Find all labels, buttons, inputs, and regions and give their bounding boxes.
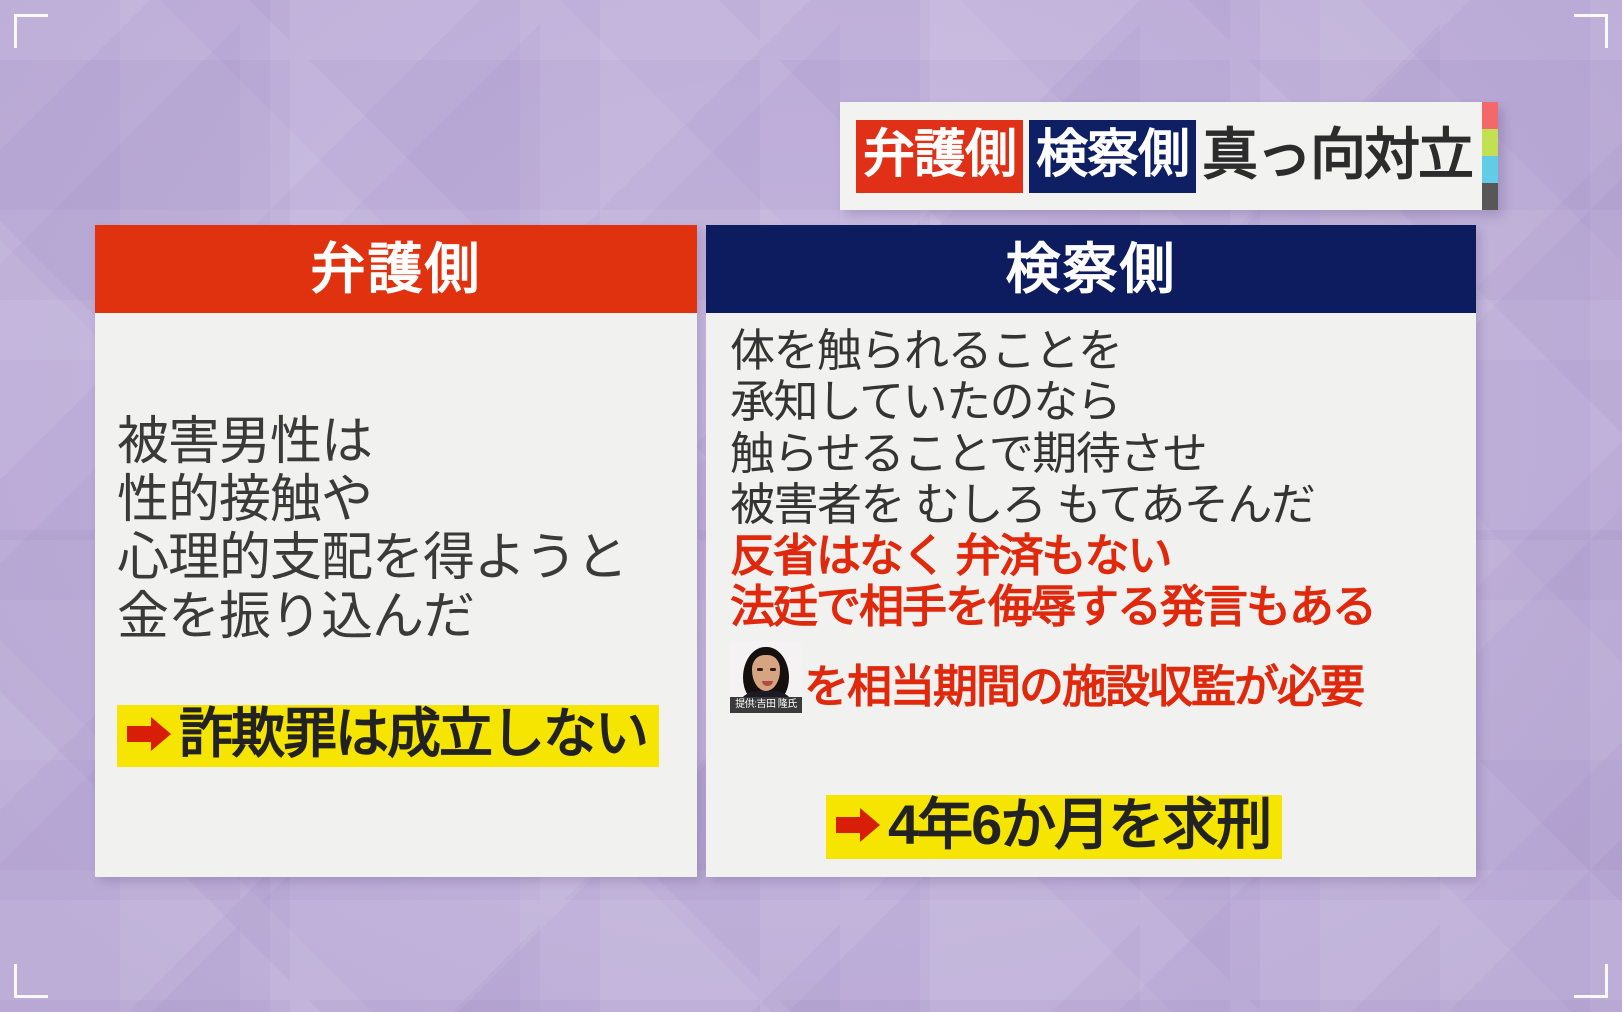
defense-line-0: 被害男性は (117, 413, 689, 471)
banner-stripe-segment-0 (1482, 102, 1498, 129)
defense-conclusion-highlight: 詐欺罪は成立しない (117, 705, 659, 767)
prosecution-conclusion-highlight: 4年6か月を求刑 (826, 795, 1282, 859)
prosecution-incarceration-text: を相当期間の施設収監が必要 (804, 661, 1363, 712)
crop-mark-bottom-left-icon (14, 964, 48, 998)
banner-stripe-segment-3 (1482, 183, 1498, 210)
banner-stripe-segment-2 (1482, 156, 1498, 183)
photo-credit-caption: 提供:吉田 隆氏 (730, 697, 802, 713)
defense-line-3: 金を振り込んだ (117, 588, 689, 646)
defense-line-1: 性的接触や (117, 471, 689, 529)
prosecution-line-1: 承知していたのなら (730, 376, 1472, 427)
prosecution-line-0: 体を触られることを (730, 325, 1472, 376)
broadcast-graphic-stage: 弁護側 検察側 真っ向対立 弁護側 被害男性は性的接触や心理的支配を得ようと金を… (0, 0, 1622, 1012)
banner-headline-text: 真っ向対立 (1202, 127, 1478, 186)
prosecution-conclusion-text: 4年6か月を求刑 (888, 797, 1270, 853)
panel-body-defense: 被害男性は性的接触や心理的支配を得ようと金を振り込んだ 詐欺罪は成立しない (95, 313, 697, 877)
banner-chip-defense: 弁護側 (856, 120, 1023, 193)
crop-mark-top-right-icon (1574, 14, 1608, 48)
defense-statement-lines: 被害男性は性的接触や心理的支配を得ようと金を振り込んだ (117, 413, 689, 646)
prosecution-statement-lines: 体を触られることを承知していたのなら触らせることで期待させ被害者を むしろ もて… (730, 325, 1472, 713)
panel-header-defense: 弁護側 (95, 225, 697, 313)
prosecution-line-4: 反省はなく 弁済もない (730, 530, 1472, 581)
portrait-eye-left (757, 668, 763, 671)
headline-banner: 弁護側 検察側 真っ向対立 (840, 102, 1498, 210)
prosecution-line-3: 被害者を むしろ もてあそんだ (730, 479, 1472, 530)
defense-conclusion: 詐欺罪は成立しない (117, 705, 659, 767)
crop-mark-top-left-icon (14, 14, 48, 48)
crop-mark-bottom-right-icon (1574, 964, 1608, 998)
banner-stripe-segment-1 (1482, 129, 1498, 156)
banner-chip-prosecution: 検察側 (1029, 120, 1196, 193)
defense-line-2: 心理的支配を得ようと (117, 529, 689, 587)
panel-defense: 弁護側 被害男性は性的接触や心理的支配を得ようと金を振り込んだ 詐欺罪は成立しな… (95, 225, 697, 877)
prosecution-line-5: 法廷で相手を侮辱する発言もある (730, 581, 1472, 632)
portrait-eye-right (770, 668, 776, 671)
right-arrow-icon (836, 808, 880, 842)
panel-prosecution: 検察側 体を触られることを承知していたのなら触らせることで期待させ被害者を むし… (706, 225, 1476, 877)
prosecution-conclusion: 4年6か月を求刑 (826, 795, 1282, 859)
prosecution-line-2: 触らせることで期待させ (730, 428, 1472, 479)
right-arrow-icon (127, 717, 171, 751)
panel-header-prosecution: 検察側 (706, 225, 1476, 313)
banner-color-stripe (1482, 102, 1498, 210)
prosecution-sentence-request-row: 提供:吉田 隆氏 を相当期間の施設収監が必要 (730, 641, 1472, 713)
panel-body-prosecution: 体を触られることを承知していたのなら触らせることで期待させ被害者を むしろ もて… (706, 313, 1476, 877)
defense-conclusion-text: 詐欺罪は成立しない (179, 707, 647, 761)
victim-portrait-photo: 提供:吉田 隆氏 (730, 641, 802, 713)
